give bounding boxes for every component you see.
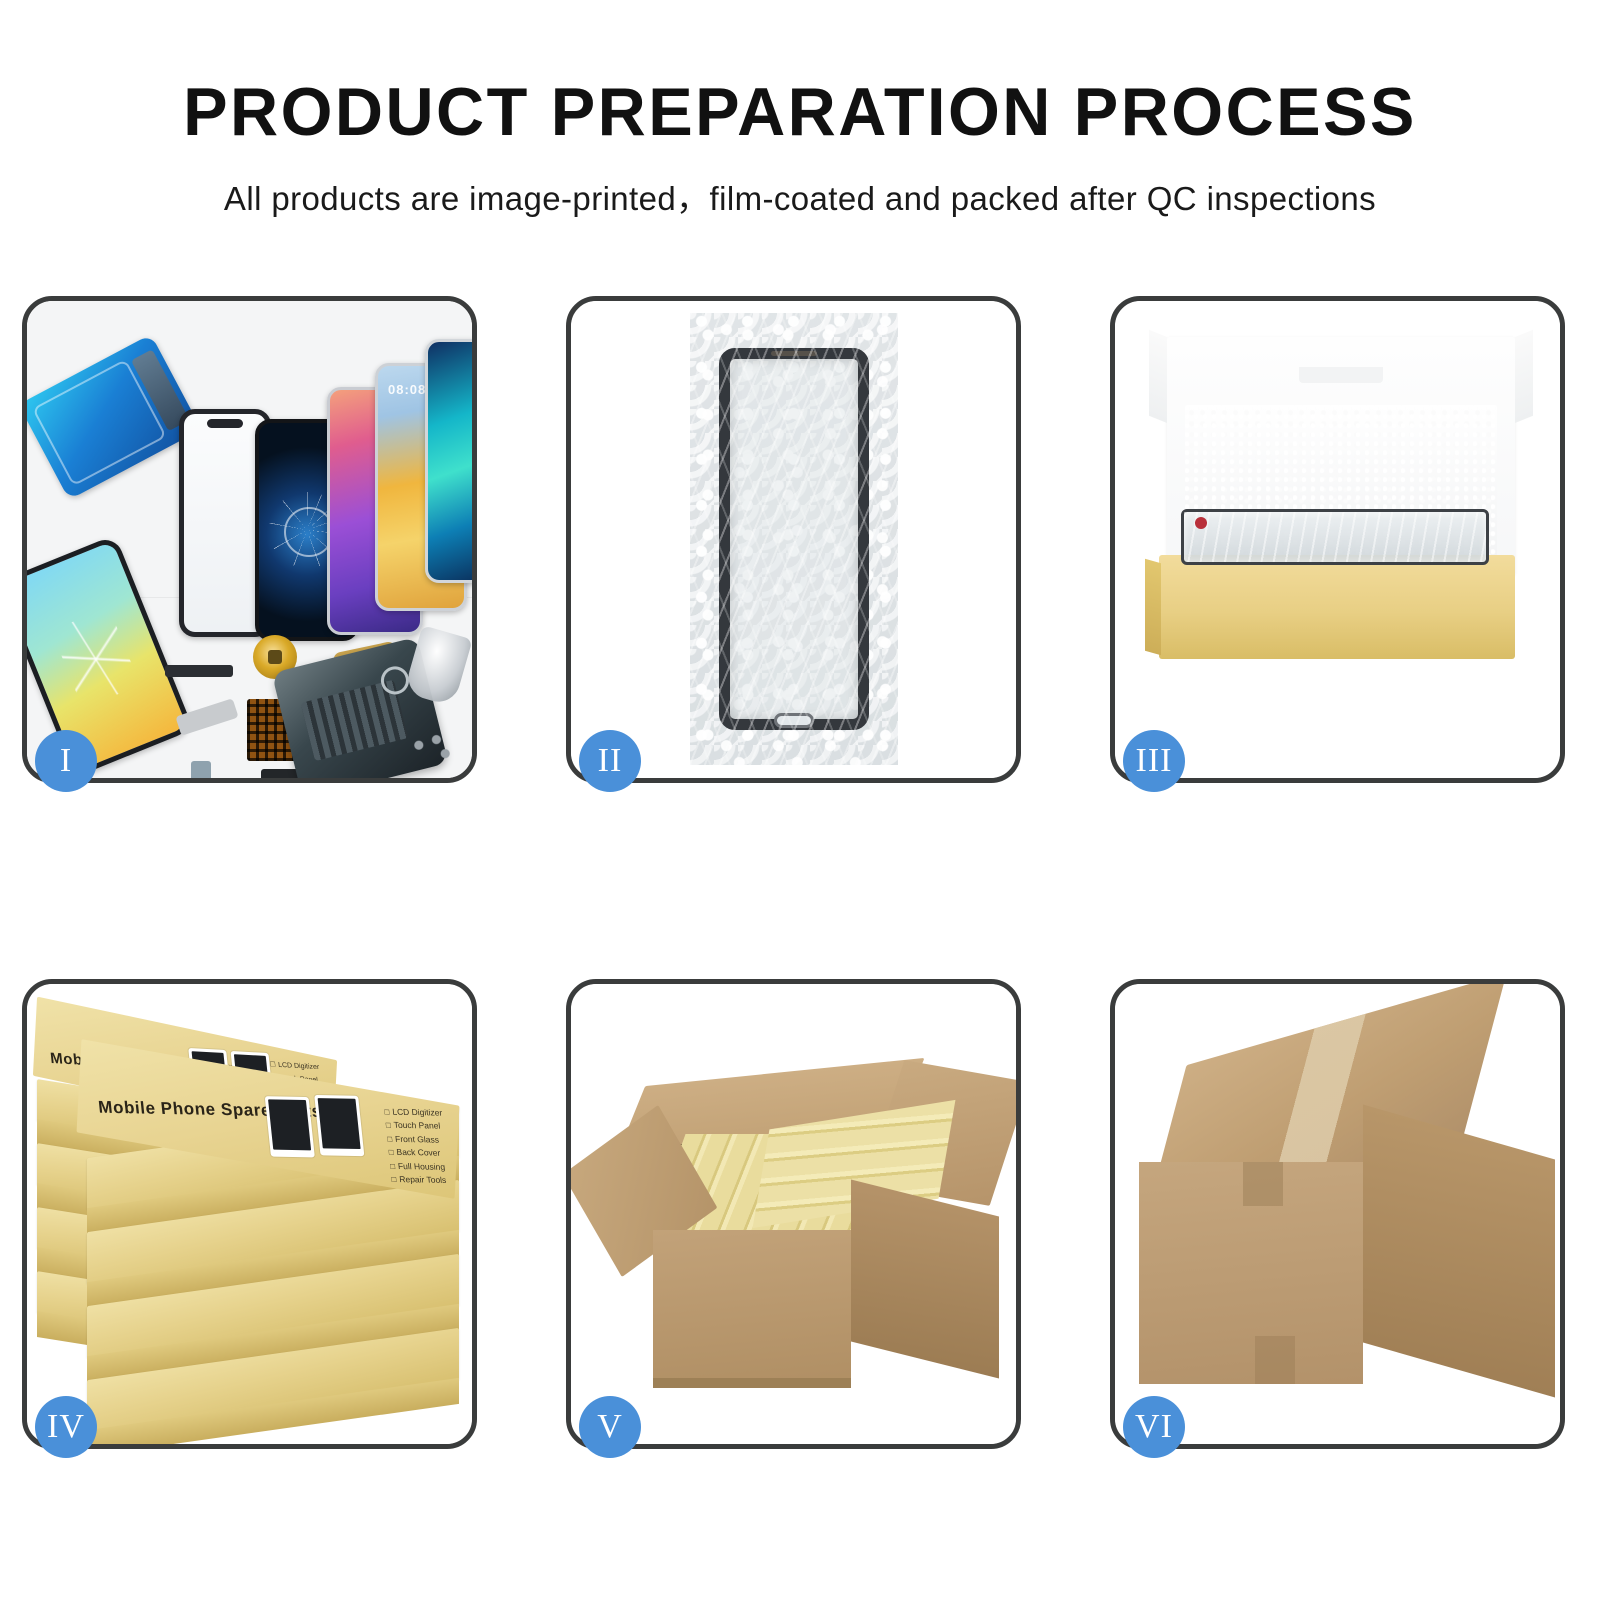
screws-part <box>410 734 454 762</box>
carton-bottom-edge <box>653 1378 851 1388</box>
process-step-grid: 08:08 <box>22 296 1578 1449</box>
carton-flap-seam-bottom <box>1255 1336 1295 1384</box>
checklist-item: Back Cover <box>388 1145 447 1160</box>
phone-clock-label: 08:08 <box>388 382 426 397</box>
checklist-item: Full Housing <box>389 1159 448 1174</box>
home-button-cutout <box>774 713 814 728</box>
checklist-item: LCD Digitizer <box>384 1105 443 1120</box>
step-3-image <box>1115 301 1560 778</box>
kraft-box-tray <box>1159 555 1515 659</box>
step-panel-1[interactable]: 08:08 <box>22 296 477 783</box>
sealed-carton-side-face <box>1363 1104 1555 1397</box>
header: PRODUCT PREPARATION PROCESS All products… <box>0 78 1600 220</box>
checklist-item: Touch Panel <box>385 1118 444 1133</box>
step-badge-1: I <box>35 730 97 792</box>
carton-flap-seam-top <box>1243 1162 1283 1206</box>
carton-front-face <box>653 1230 851 1384</box>
checklist-item: Front Glass <box>386 1132 445 1147</box>
step-badge-3: III <box>1123 730 1185 792</box>
step-badge-6: VI <box>1123 1396 1185 1458</box>
bubble-wrap-sheet <box>690 313 898 765</box>
checklist-item: Repair Tools <box>391 1172 450 1187</box>
page-subtitle: All products are image-printed，film-coat… <box>0 172 1600 220</box>
step-2-image <box>571 301 1016 778</box>
sim-tray-part <box>191 761 211 778</box>
box-artwork-phone-thumb-1 <box>265 1096 315 1157</box>
step-badge-5: V <box>579 1396 641 1458</box>
retail-box-stack: Mobile Phone Spare Parts LCD Digitizer T… <box>33 1010 463 1430</box>
earpiece-speaker-part <box>165 665 233 677</box>
box-lid-tab <box>1299 367 1383 383</box>
box-artwork-phone-thumb-2 <box>314 1095 364 1156</box>
step-panel-2[interactable]: II <box>566 296 1021 783</box>
page-title: PRODUCT PREPARATION PROCESS <box>16 78 1584 146</box>
carton-side-face <box>851 1180 999 1379</box>
step-panel-5[interactable]: V <box>566 979 1021 1449</box>
step-5-image <box>571 984 1016 1444</box>
step-panel-3[interactable]: III <box>1110 296 1565 783</box>
step-badge-4: IV <box>35 1396 97 1458</box>
step-panel-6[interactable]: VI <box>1110 979 1565 1449</box>
step-6-image <box>1115 984 1560 1444</box>
teal-gradient-phone <box>425 339 472 583</box>
packed-screen-in-box <box>1181 509 1489 565</box>
step-4-image: Mobile Phone Spare Parts LCD Digitizer T… <box>27 984 472 1444</box>
step-panel-4[interactable]: Mobile Phone Spare Parts LCD Digitizer T… <box>22 979 477 1449</box>
connector-marker <box>1195 517 1207 529</box>
wrapped-screen-assembly <box>719 348 869 730</box>
infographic-page: PRODUCT PREPARATION PROCESS All products… <box>0 0 1600 1600</box>
step-badge-2: II <box>579 730 641 792</box>
flex-cable-part-3 <box>175 698 238 736</box>
step-1-image: 08:08 <box>27 301 472 778</box>
retail-box-checklist-front: LCD Digitizer Touch Panel Front Glass Ba… <box>384 1105 450 1187</box>
